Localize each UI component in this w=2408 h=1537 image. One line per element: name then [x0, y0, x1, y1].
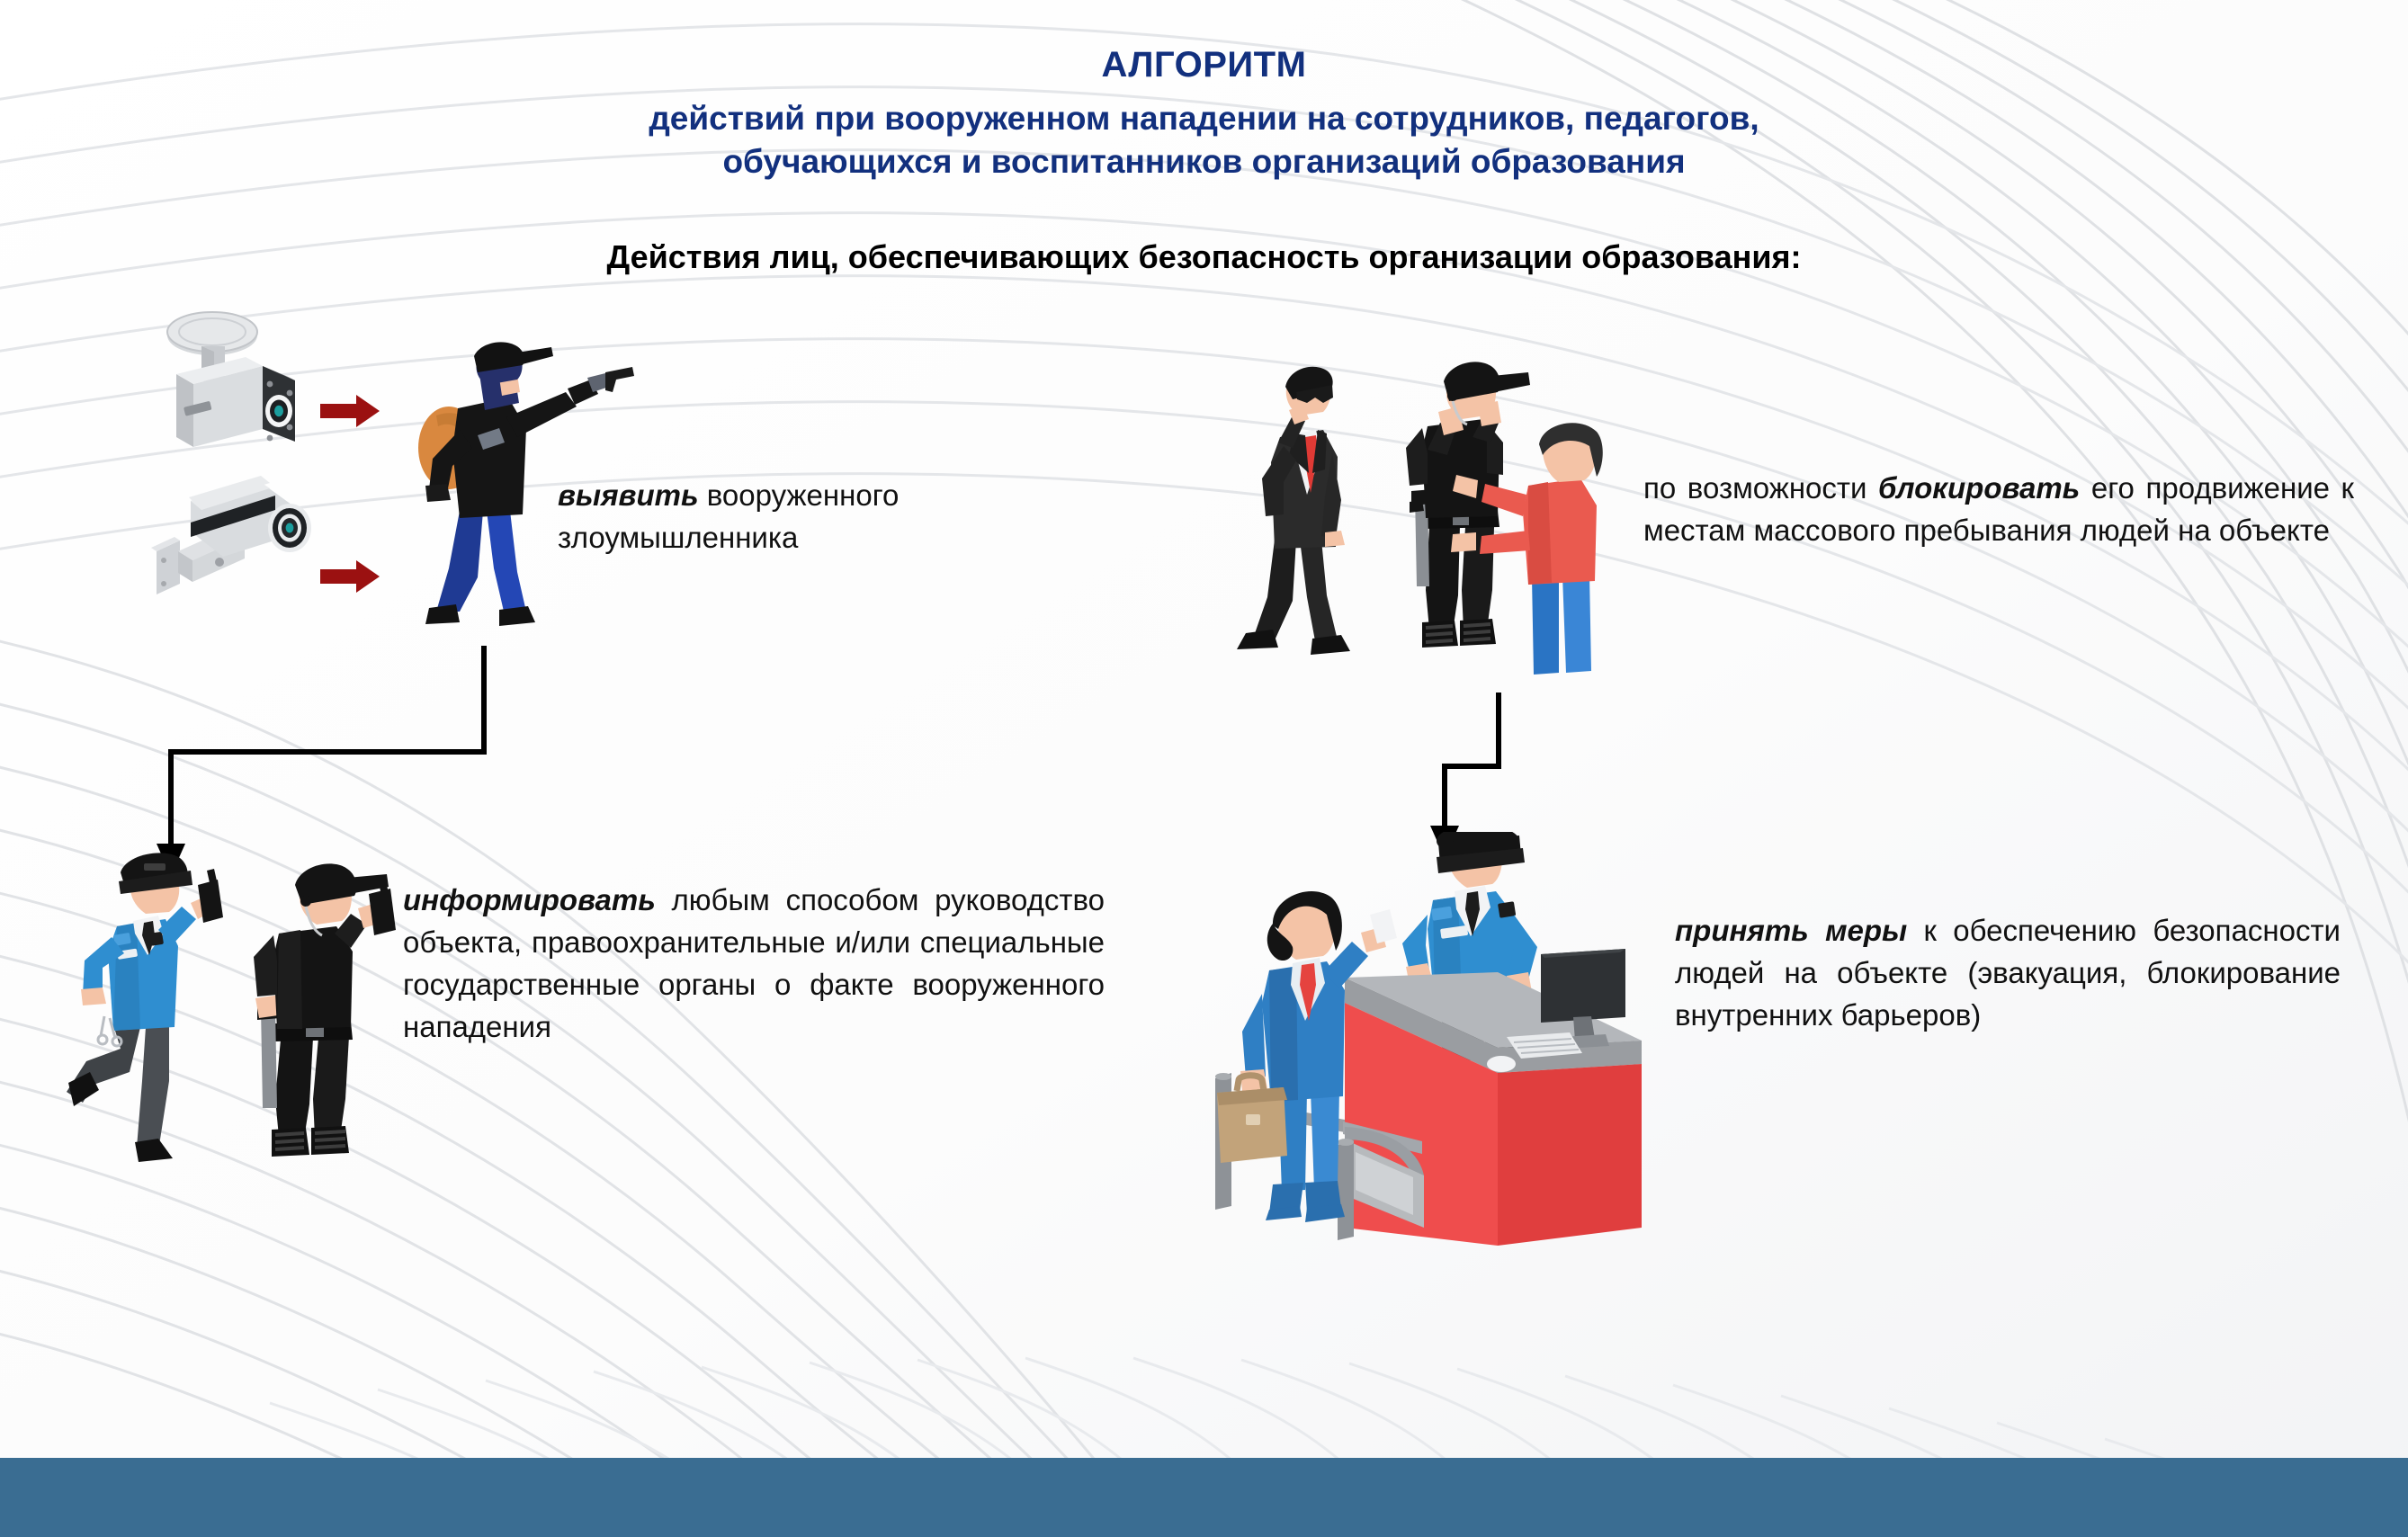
- reception-desk-illustration: [1210, 832, 1678, 1246]
- ceiling-mounted-cctv-camera-icon: [167, 312, 295, 447]
- page-title: АЛГОРИТМ: [0, 47, 2408, 83]
- page-subtitle-line1: действий при вооруженном нападении на со…: [216, 97, 2192, 140]
- step-measures-text: принять меры к обеспечению безопасности …: [1675, 910, 2341, 1037]
- guard-blocking-group-illustration: [1210, 360, 1642, 675]
- bodyguard-in-suit-figure: [1237, 367, 1350, 655]
- step-detect-text: выявить вооруженного злоумышленника: [558, 475, 1079, 559]
- bottom-accent-bar: [0, 1458, 2408, 1537]
- step-measures-lead: принять меры: [1675, 914, 1907, 947]
- infographic-slide: АЛГОРИТМ действий при вооруженном нападе…: [0, 0, 2408, 1537]
- monitor-icon: [1541, 949, 1625, 1023]
- step-detect-lead: выявить: [558, 478, 699, 512]
- section-title: Действия лиц, обеспечивающих безопасност…: [0, 238, 2408, 276]
- security-guard-radio-baton-figure: [254, 863, 396, 1157]
- guards-informing-illustration: [63, 845, 441, 1223]
- red-arrow-icon-2: [320, 560, 380, 593]
- page-subtitle-line2: обучающихся и воспитанников организаций …: [216, 140, 2192, 183]
- step-inform-lead: информировать: [403, 883, 656, 916]
- police-officer-running-figure: [67, 853, 223, 1162]
- step-inform-text: информировать любым способом руководство…: [403, 880, 1105, 1048]
- step-block-prefix: по возможности: [1643, 471, 1878, 505]
- step-block-text: по возможности блокировать его продвижен…: [1643, 468, 2354, 552]
- wall-mounted-cctv-camera-icon: [151, 476, 311, 594]
- mouse-icon: [1487, 1056, 1516, 1072]
- red-arrow-icon-1: [320, 395, 380, 427]
- heading-block: АЛГОРИТМ действий при вооруженном нападе…: [0, 47, 2408, 183]
- step-block-lead: блокировать: [1878, 471, 2080, 505]
- page-subtitle: действий при вооруженном нападении на со…: [0, 97, 2408, 183]
